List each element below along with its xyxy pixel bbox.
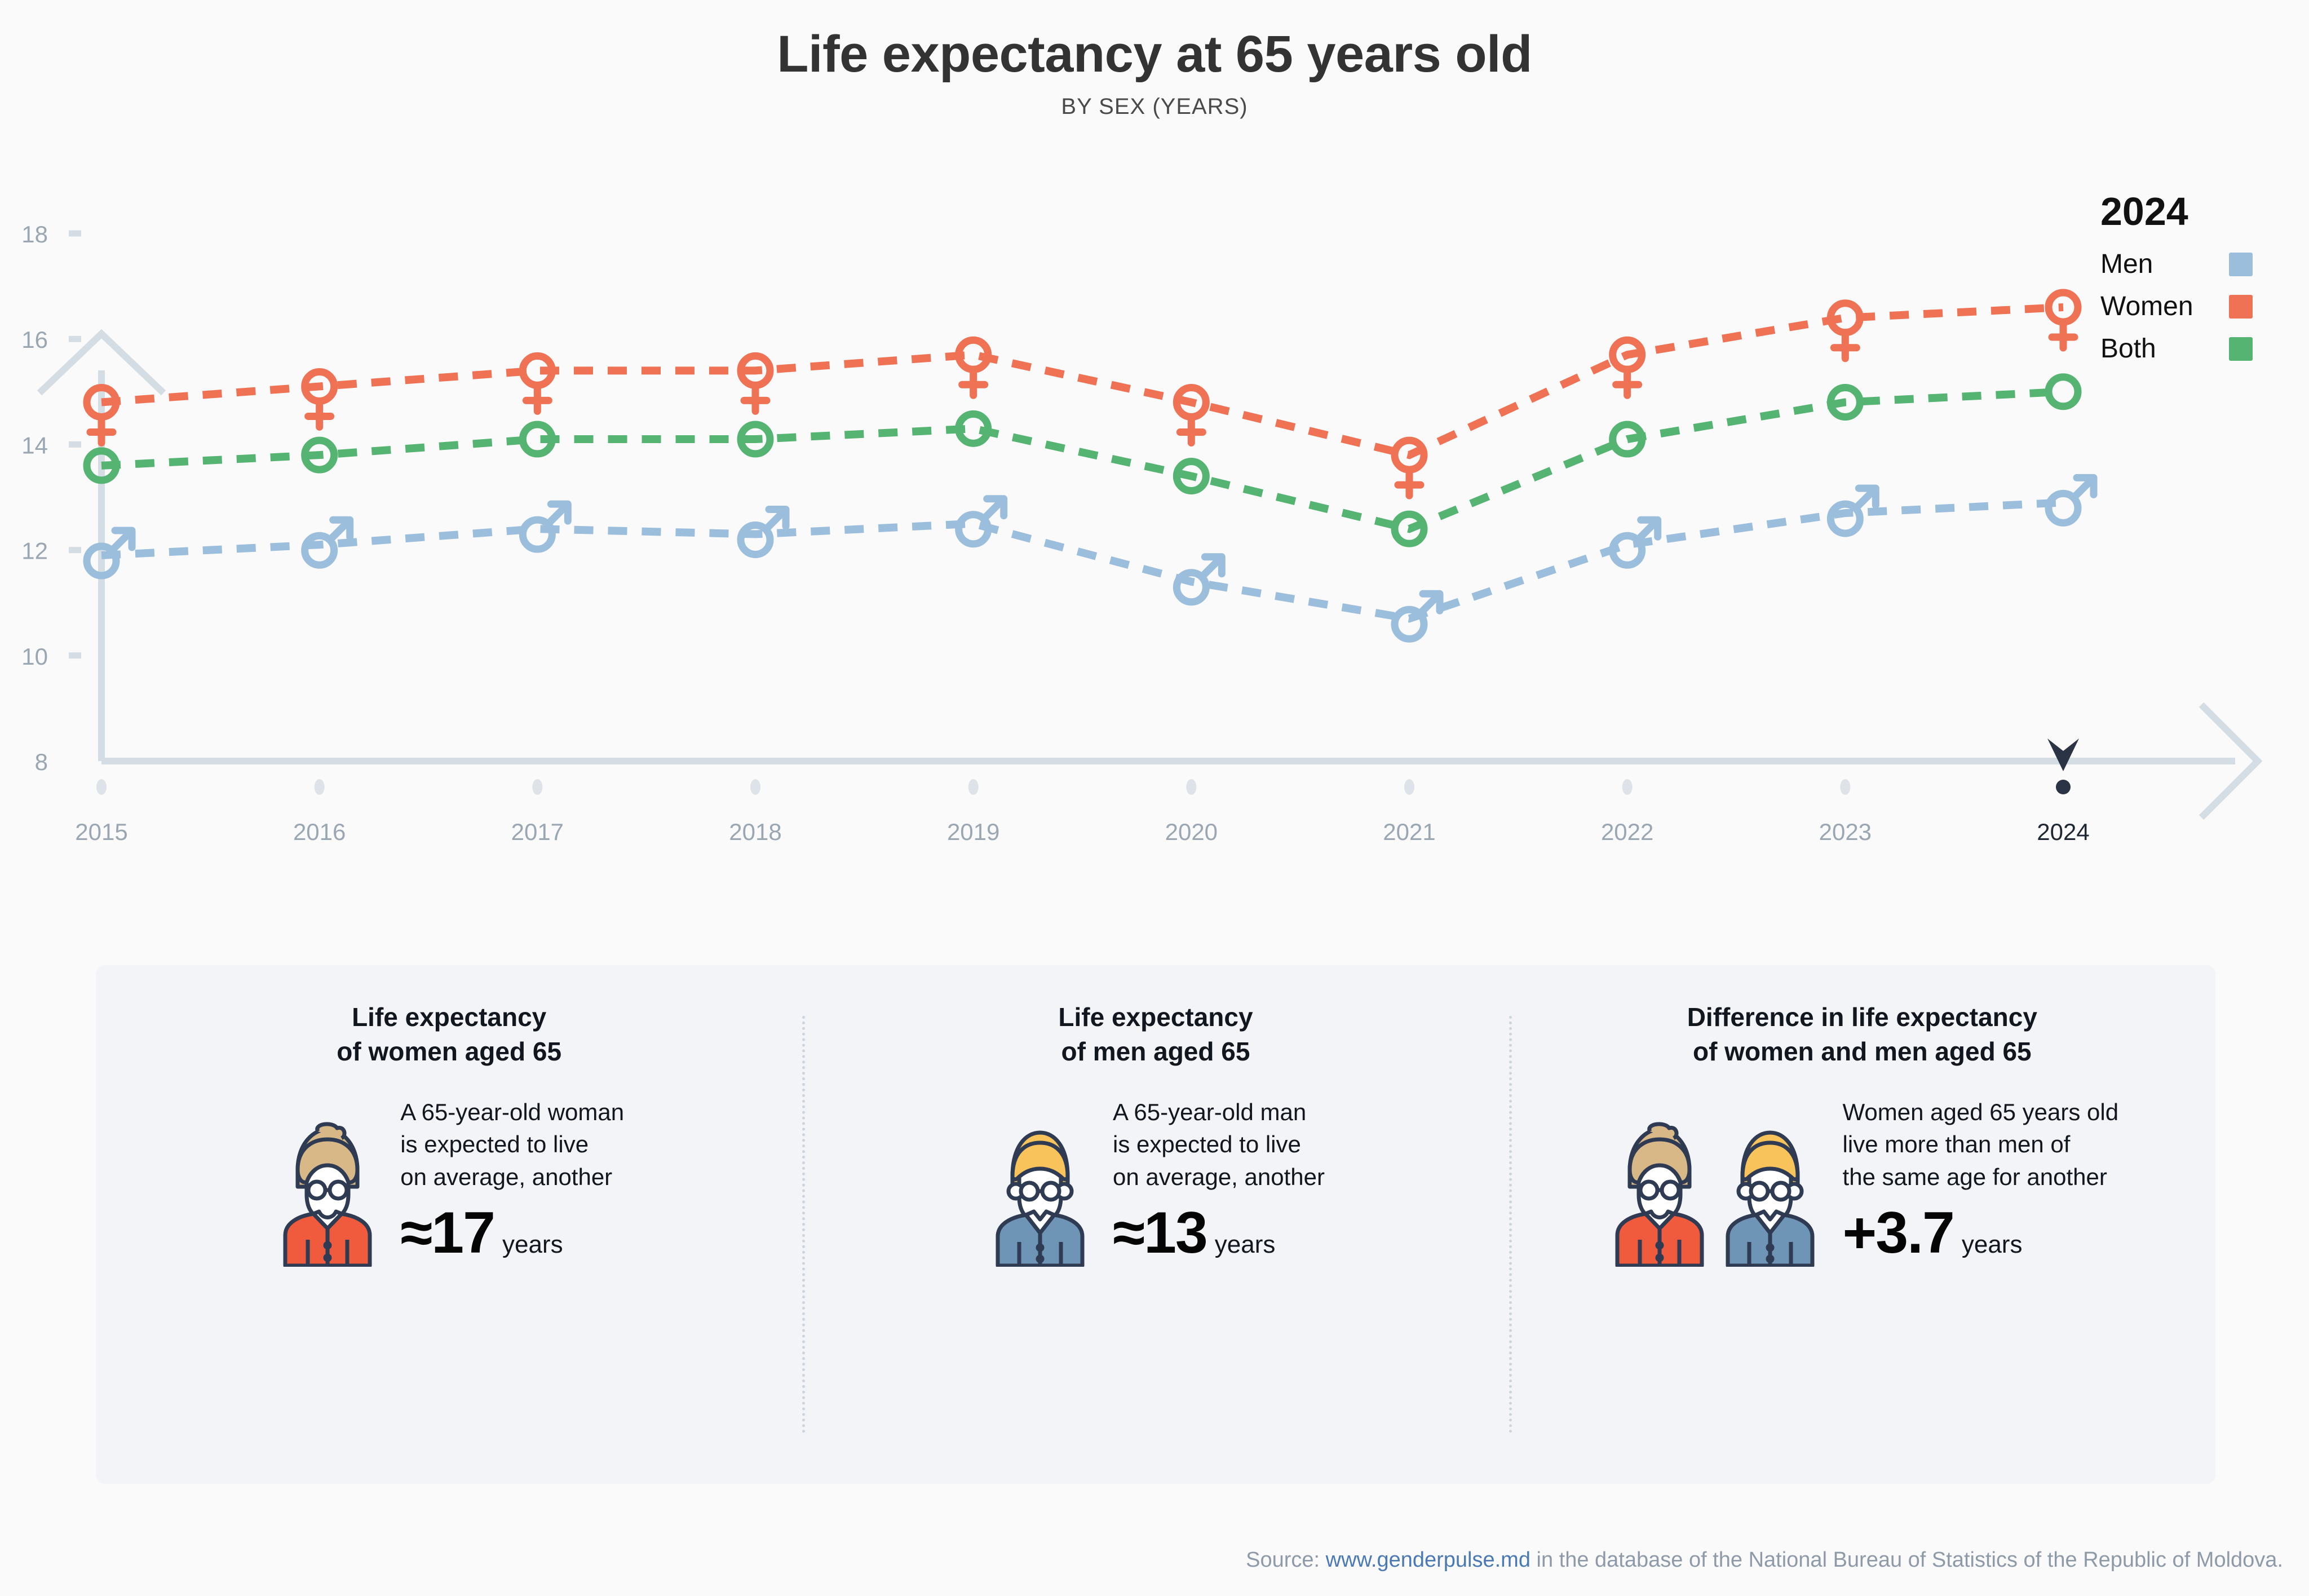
legend-item-men[interactable]: Men bbox=[2100, 249, 2253, 280]
datapoint-men-2019[interactable] bbox=[959, 498, 1004, 543]
datapoint-women-2021[interactable] bbox=[1395, 440, 1424, 496]
summary-card-2: Life expectancy of men aged 65 A 65-year… bbox=[802, 965, 1509, 1484]
header: Life expectancy at 65 years old BY SEX (… bbox=[0, 0, 2309, 120]
series-line-women bbox=[101, 307, 2063, 455]
card-unit: years bbox=[502, 1231, 563, 1259]
man-avatar-icon bbox=[987, 1120, 1094, 1267]
x-tick-label-2023: 2023 bbox=[1819, 819, 1872, 845]
card-avatars bbox=[274, 1120, 381, 1267]
legend-label-women: Women bbox=[2100, 291, 2193, 322]
x-tick-label-2018: 2018 bbox=[729, 819, 781, 845]
line-chart: 8101214161820152016201720182019202020212… bbox=[0, 142, 2309, 875]
card-avatars bbox=[987, 1120, 1094, 1267]
datapoint-women-2016[interactable] bbox=[305, 372, 334, 427]
x-tick-dot-highlight bbox=[2056, 780, 2071, 794]
datapoint-men-2020[interactable] bbox=[1176, 556, 1222, 602]
y-tick-label: 12 bbox=[21, 537, 48, 564]
summary-panel: Life expectancy of women aged 65 A 65-ye… bbox=[96, 965, 2215, 1484]
card-avatars bbox=[1606, 1120, 1824, 1267]
x-tick-label-2016: 2016 bbox=[293, 819, 346, 845]
card-value: ≈13 bbox=[1113, 1200, 1207, 1267]
card-figure: ≈13years bbox=[1113, 1200, 1325, 1267]
card-figure: ≈17years bbox=[400, 1200, 624, 1267]
datapoint-women-2024[interactable] bbox=[2049, 293, 2078, 348]
card-body: A 65-year-old man is expected to live on… bbox=[802, 1096, 1509, 1266]
datapoint-women-2019[interactable] bbox=[959, 340, 988, 395]
x-tick-dot bbox=[968, 779, 979, 795]
y-tick-label: 18 bbox=[21, 221, 48, 247]
card-body: A 65-year-old woman is expected to live … bbox=[96, 1096, 802, 1266]
card-value: ≈17 bbox=[400, 1200, 494, 1267]
x-tick-label-2021: 2021 bbox=[1383, 819, 1435, 845]
legend-year: 2024 bbox=[2100, 189, 2286, 234]
y-tick-label: 14 bbox=[21, 432, 48, 458]
legend-item-women[interactable]: Women bbox=[2100, 291, 2253, 322]
legend-label-both: Both bbox=[2100, 333, 2156, 364]
x-tick-dot bbox=[1840, 779, 1850, 795]
datapoint-women-2017[interactable] bbox=[523, 356, 552, 411]
datapoint-men-2024[interactable] bbox=[2049, 478, 2094, 523]
legend-swatch-men bbox=[2229, 253, 2253, 276]
card-unit: years bbox=[1962, 1231, 2023, 1259]
datapoint-both-2024[interactable] bbox=[2049, 377, 2078, 406]
x-tick-dot bbox=[750, 779, 760, 795]
legend-label-men: Men bbox=[2100, 249, 2153, 280]
x-tick-dot bbox=[1622, 779, 1633, 795]
x-tick-dot bbox=[532, 779, 542, 795]
datapoint-women-2020[interactable] bbox=[1176, 387, 1206, 443]
card-figure: +3.7years bbox=[1843, 1200, 2119, 1267]
series-line-both bbox=[101, 391, 2063, 528]
card-text: A 65-year-old woman is expected to live … bbox=[400, 1096, 624, 1266]
x-tick-label-2020: 2020 bbox=[1165, 819, 1218, 845]
card-title: Difference in life expectancy of women a… bbox=[1509, 1000, 2215, 1069]
datapoint-men-2017[interactable] bbox=[523, 504, 568, 549]
y-tick-label: 10 bbox=[21, 643, 48, 669]
card-title: Life expectancy of women aged 65 bbox=[96, 1000, 802, 1069]
x-tick-label-2017: 2017 bbox=[511, 819, 564, 845]
legend-item-both[interactable]: Both bbox=[2100, 333, 2253, 364]
series-line-men bbox=[101, 502, 2063, 618]
source-link[interactable]: www.genderpulse.md bbox=[1326, 1548, 1531, 1572]
y-tick-label: 8 bbox=[35, 749, 48, 775]
card-value: +3.7 bbox=[1843, 1200, 1954, 1267]
card-description: A 65-year-old woman is expected to live … bbox=[400, 1096, 624, 1192]
x-tick-label-2022: 2022 bbox=[1601, 819, 1653, 845]
card-body: Women aged 65 years old live more than m… bbox=[1509, 1096, 2215, 1266]
x-tick-dot bbox=[1404, 779, 1414, 795]
x-tick-label-2019: 2019 bbox=[947, 819, 999, 845]
woman-avatar-icon bbox=[274, 1120, 381, 1267]
card-description: A 65-year-old man is expected to live on… bbox=[1113, 1096, 1325, 1192]
legend-swatch-women bbox=[2229, 295, 2253, 319]
datapoint-women-2022[interactable] bbox=[1613, 340, 1642, 395]
source-suffix: in the database of the National Bureau o… bbox=[1531, 1548, 2283, 1572]
chart-legend: 2024 Men Women Both bbox=[2100, 189, 2286, 375]
card-description: Women aged 65 years old live more than m… bbox=[1843, 1096, 2119, 1192]
x-tick-label-2015: 2015 bbox=[75, 819, 127, 845]
summary-card-1: Life expectancy of women aged 65 A 65-ye… bbox=[96, 965, 802, 1484]
summary-card-3: Difference in life expectancy of women a… bbox=[1509, 965, 2215, 1484]
datapoint-women-2018[interactable] bbox=[741, 356, 770, 411]
x-tick-dot bbox=[1186, 779, 1196, 795]
datapoint-women-2023[interactable] bbox=[1830, 303, 1860, 358]
summary-cards: Life expectancy of women aged 65 A 65-ye… bbox=[96, 965, 2215, 1484]
page-title: Life expectancy at 65 years old bbox=[0, 27, 2309, 82]
page-subtitle: BY SEX (YEARS) bbox=[0, 94, 2309, 120]
woman-avatar-icon bbox=[1606, 1120, 1713, 1267]
x-tick-label-2024: 2024 bbox=[2037, 819, 2089, 845]
year-pointer-caret bbox=[2047, 739, 2079, 771]
source-prefix: Source: bbox=[1246, 1548, 1326, 1572]
man-avatar-icon bbox=[1717, 1120, 1824, 1267]
datapoint-men-2021[interactable] bbox=[1395, 594, 1440, 639]
y-tick-label: 16 bbox=[21, 326, 48, 353]
card-unit: years bbox=[1215, 1231, 1276, 1259]
source-note: Source: www.genderpulse.md in the databa… bbox=[1246, 1548, 2283, 1572]
card-text: Women aged 65 years old live more than m… bbox=[1843, 1096, 2119, 1266]
infographic-page: Life expectancy at 65 years old BY SEX (… bbox=[0, 0, 2309, 1596]
datapoint-men-2015[interactable] bbox=[87, 530, 132, 576]
chart-canvas: 8101214161820152016201720182019202020212… bbox=[0, 142, 2309, 875]
card-text: A 65-year-old man is expected to live on… bbox=[1113, 1096, 1325, 1266]
legend-swatch-both bbox=[2229, 337, 2253, 361]
x-tick-dot bbox=[315, 779, 325, 795]
x-tick-dot bbox=[96, 779, 107, 795]
card-title: Life expectancy of men aged 65 bbox=[802, 1000, 1509, 1069]
